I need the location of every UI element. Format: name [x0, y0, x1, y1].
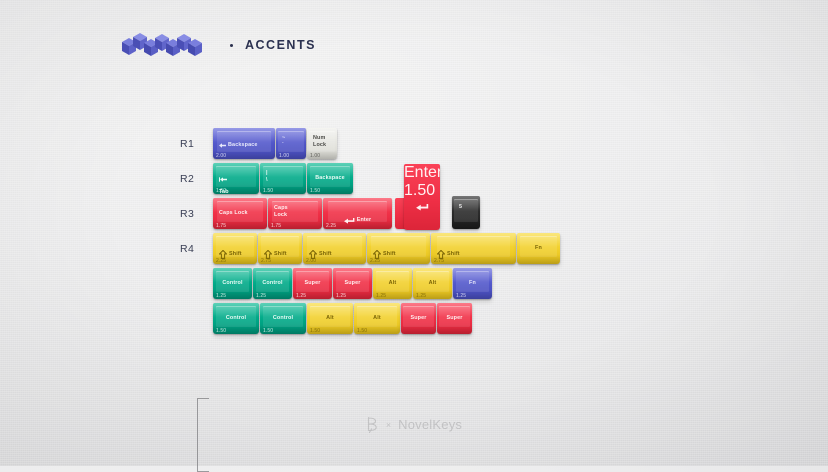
keycap-iso-enter[interactable]: Enter 1.50: [404, 164, 440, 230]
keycap-legend: Shift: [437, 243, 512, 264]
keycap-legend: | \: [266, 170, 302, 184]
keycap-size: 1.00: [310, 153, 320, 159]
enter-arrow-icon: [416, 204, 429, 211]
keycap-legend: Super: [401, 315, 436, 322]
row-label: R4: [180, 243, 206, 255]
novelkeys-mark-icon: [366, 416, 379, 433]
keycap-backslash[interactable]: | \ 1.50: [260, 163, 306, 194]
keycap-size: 1.25: [376, 293, 386, 299]
keycap-size: 1.25: [456, 293, 466, 299]
keycap-enter[interactable]: Enter 2.25: [323, 198, 392, 229]
keycap-shift[interactable]: Shift 2.25: [367, 233, 430, 264]
mark-svg: [366, 416, 379, 433]
title-bullet-icon: [230, 44, 233, 47]
legend-text: Backspace: [228, 142, 258, 149]
keycap-size: 1.50: [263, 328, 273, 334]
row-keys: Tab 1.50 | \ 1.50 Backspace: [213, 163, 353, 194]
keycap-size: 2.00: [306, 258, 316, 264]
keycap-caps-lock[interactable]: Caps Lock 1.75: [268, 198, 322, 229]
keycap-fn[interactable]: Fn 1.25: [453, 268, 492, 299]
keycap-legend: Control: [213, 280, 252, 287]
keycap-control[interactable]: Control 1.25: [253, 268, 292, 299]
keycap-legend: Shift: [309, 243, 362, 264]
page-header: ACCENTS: [122, 30, 316, 60]
keycap-control[interactable]: Control 1.50: [260, 303, 306, 334]
keycap-size: 1.25: [256, 293, 266, 299]
bottom-cluster-bracket: [197, 398, 209, 472]
keycap-size: 1.50: [216, 188, 226, 194]
keycap-alt[interactable]: Alt 1.25: [373, 268, 412, 299]
keycap-legend: Control: [260, 315, 306, 322]
keycap-size: 1.50: [263, 188, 273, 194]
keycap-size: 1.50: [310, 188, 320, 194]
keycap-legend: Super: [437, 315, 472, 322]
keycap-control[interactable]: Control 1.25: [213, 268, 252, 299]
legend-text: Shift: [319, 251, 332, 258]
keycap-legend: Alt: [307, 315, 353, 322]
keycap-legend: Num Lock: [313, 135, 333, 149]
keycap-legend: Alt: [413, 280, 452, 287]
keycap-numpad-five[interactable]: 5: [452, 196, 480, 229]
enter-arrow-icon: [344, 218, 355, 224]
row-label: R3: [180, 208, 206, 220]
keycap-size: 1.75: [216, 223, 226, 229]
keycap-control[interactable]: Control 1.50: [213, 303, 259, 334]
keycap-size: 1.25: [296, 293, 306, 299]
keycap-shift[interactable]: Shift 2.75: [258, 233, 302, 264]
keycap-row: Control 1.50 Control 1.50 Alt 1.50 Alt 1…: [182, 303, 560, 337]
keycap-legend: Caps Lock: [274, 205, 318, 219]
row-keys: Shift 2.25 Shift 2.75: [213, 233, 560, 264]
keycap-legend: Alt: [373, 280, 412, 287]
keycap-backspace[interactable]: Backspace 1.50: [307, 163, 353, 194]
arrow-left-icon: [219, 143, 226, 148]
keycap-size: 1.25: [416, 293, 426, 299]
keycap-shift[interactable]: Shift 2.00: [303, 233, 366, 264]
keycap-caps-lock[interactable]: Caps Lock 1.75: [213, 198, 267, 229]
keycap-size: 1.25: [216, 293, 226, 299]
keycap-row: R1 Backspace 2.00: [182, 128, 560, 162]
keycap-size: 1.50: [310, 328, 320, 334]
keycap-legend: Backspace: [307, 175, 353, 182]
keycap-size: 2.75: [261, 258, 271, 264]
keycap-size: 2.25: [326, 223, 336, 229]
keycap-legend: Enter: [404, 164, 440, 182]
keycap-legend: Fn: [453, 280, 492, 287]
keycap-alt[interactable]: Alt 1.50: [354, 303, 400, 334]
keycap-legend: ~ `: [282, 135, 302, 149]
keycap-size: 1.50: [216, 328, 226, 334]
iso-enter-top: Enter 1.50: [404, 164, 440, 230]
tab-arrows-icon: [219, 177, 228, 182]
keycap-shift[interactable]: Shift 2.25: [213, 233, 257, 264]
keycap-super[interactable]: Super 1.25: [333, 268, 372, 299]
keycap-fn[interactable]: Fn: [517, 233, 560, 264]
legend-line: Shift: [309, 250, 362, 259]
keycap-row: R3 Caps Lock 1.75 Caps Lock 1.75: [182, 198, 560, 232]
keycap-size: 2.25: [216, 258, 226, 264]
iso-enter-arrow: [404, 198, 440, 216]
keycap-legend: Shift: [373, 243, 426, 264]
keycap-num-lock[interactable]: Num Lock 1.00: [307, 128, 337, 159]
row-keys: Backspace 2.00 ~ ` 1.00 Num Lock 1.00: [213, 128, 337, 159]
keycap-size: 2.25: [370, 258, 380, 264]
legend-line: Shift: [373, 250, 426, 259]
keycap-layout: R1 Backspace 2.00: [182, 128, 560, 338]
footer-brand: NovelKeys: [398, 417, 462, 432]
keycap-row: R2 Tab 1.50: [182, 163, 560, 197]
keycap-legend: Super: [293, 280, 332, 287]
keycap-legend: Fn: [517, 245, 560, 252]
legend-text: Enter: [357, 217, 372, 224]
keycap-row: R4 Shift 2.25: [182, 233, 560, 267]
legend-text: Shift: [383, 251, 396, 258]
keycap-row: Control 1.25 Control 1.25 Super 1.25 Sup…: [182, 268, 560, 302]
keycap-super[interactable]: Super 1.25: [293, 268, 332, 299]
legend-text: Enter: [404, 164, 440, 181]
keycap-legend: Alt: [354, 315, 400, 322]
keycap-size: 1.50: [357, 328, 367, 334]
legend-text: Shift: [229, 251, 242, 258]
row-label: R1: [180, 138, 206, 150]
keycap-size: 2.75: [434, 258, 444, 264]
legend-line: Shift: [437, 250, 512, 259]
row-keys: Control 1.50 Control 1.50 Alt 1.50 Alt 1…: [213, 303, 472, 334]
keycap-legend: 5: [459, 204, 476, 211]
keycap-legend: Backspace: [219, 135, 271, 156]
keycap-legend: Super: [333, 280, 372, 287]
keycap-alt[interactable]: Alt 1.25: [413, 268, 452, 299]
keycap-legend: Control: [213, 315, 259, 322]
row-keys: Control 1.25 Control 1.25 Super 1.25 Sup…: [213, 268, 492, 299]
logo-svg: [122, 30, 218, 60]
keycap-size: 1.75: [271, 223, 281, 229]
footer-separator: ×: [386, 420, 391, 430]
keycap-super[interactable]: Super: [437, 303, 472, 334]
keycap-tab[interactable]: Tab 1.50: [213, 163, 259, 194]
keycap-super[interactable]: Super: [401, 303, 436, 334]
legend-text: Shift: [274, 251, 287, 258]
page-title: ACCENTS: [245, 38, 316, 52]
row-label: R2: [180, 173, 206, 185]
row-keys: Caps Lock 1.75 Caps Lock 1.75: [213, 198, 392, 229]
keycap-size: 2.00: [216, 153, 226, 159]
legend-line: Backspace: [219, 142, 271, 149]
keycap-size: 1.25: [336, 293, 346, 299]
keycap-legend: Control: [253, 280, 292, 287]
keycap-alt[interactable]: Alt 1.50: [307, 303, 353, 334]
keycap-tilde[interactable]: ~ ` 1.00: [276, 128, 306, 159]
legend-text: Shift: [447, 251, 460, 258]
keycap-legend: Caps Lock: [219, 210, 263, 217]
keycap-backspace[interactable]: Backspace 2.00: [213, 128, 275, 159]
keycap-shift[interactable]: Shift 2.75: [431, 233, 516, 264]
footer-branding: × NovelKeys: [0, 416, 828, 433]
isometric-blocks-logo-icon: [122, 30, 218, 60]
keycap-size: 1.00: [279, 153, 289, 159]
